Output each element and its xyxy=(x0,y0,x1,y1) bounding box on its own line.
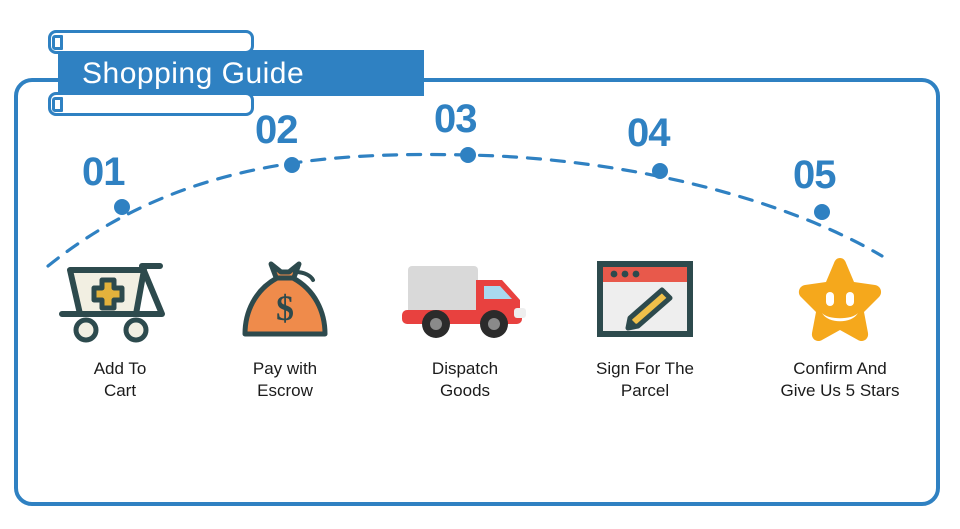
money-bag-icon: $ xyxy=(190,248,380,344)
truck-hub-front xyxy=(488,318,500,330)
truck-cargo-box xyxy=(408,266,478,314)
star-eye-left xyxy=(826,292,834,306)
sign-document-icon xyxy=(550,248,740,344)
step-number-04: 04 xyxy=(627,113,670,153)
step-number-03: 03 xyxy=(434,99,477,139)
doc-dot-2 xyxy=(622,271,629,278)
ribbon-knob-bottom xyxy=(52,97,63,112)
step-label-04: Sign For The Parcel xyxy=(550,358,740,402)
step-label-01: Add To Cart xyxy=(25,358,215,402)
title-ribbon: Shopping Guide xyxy=(24,18,444,104)
smiling-star-icon xyxy=(745,248,935,344)
step-number-01: 01 xyxy=(82,152,125,192)
doc-dot-3 xyxy=(633,271,640,278)
page-title: Shopping Guide xyxy=(82,52,422,96)
bag-dollar-sign: $ xyxy=(276,288,294,328)
step-label-05: Confirm And Give Us 5 Stars xyxy=(745,358,935,402)
cart-wheel-right xyxy=(126,320,146,340)
truck-bumper xyxy=(514,308,526,318)
shopping-cart-icon xyxy=(25,248,215,344)
ribbon-curl-top xyxy=(48,30,254,54)
delivery-truck-icon xyxy=(370,248,560,344)
star-eye-right xyxy=(846,292,854,306)
step-label-02: Pay with Escrow xyxy=(190,358,380,402)
step-item-01[interactable]: Add To Cart xyxy=(25,248,215,402)
star-shape xyxy=(799,258,881,341)
step-number-02: 02 xyxy=(255,110,298,150)
truck-hub-rear xyxy=(430,318,442,330)
step-number-05: 05 xyxy=(793,155,836,195)
step-item-03[interactable]: Dispatch Goods xyxy=(370,248,560,402)
step-item-05[interactable]: Confirm And Give Us 5 Stars xyxy=(745,248,935,402)
cart-wheel-left xyxy=(76,320,96,340)
ribbon-knob-top xyxy=(52,35,63,50)
shopping-guide-infographic: Shopping Guide 01 02 03 04 05 Add To Car… xyxy=(0,0,960,529)
step-item-02[interactable]: $ Pay with Escrow xyxy=(190,248,380,402)
step-label-03: Dispatch Goods xyxy=(370,358,560,402)
doc-dot-1 xyxy=(611,271,618,278)
step-item-04[interactable]: Sign For The Parcel xyxy=(550,248,740,402)
